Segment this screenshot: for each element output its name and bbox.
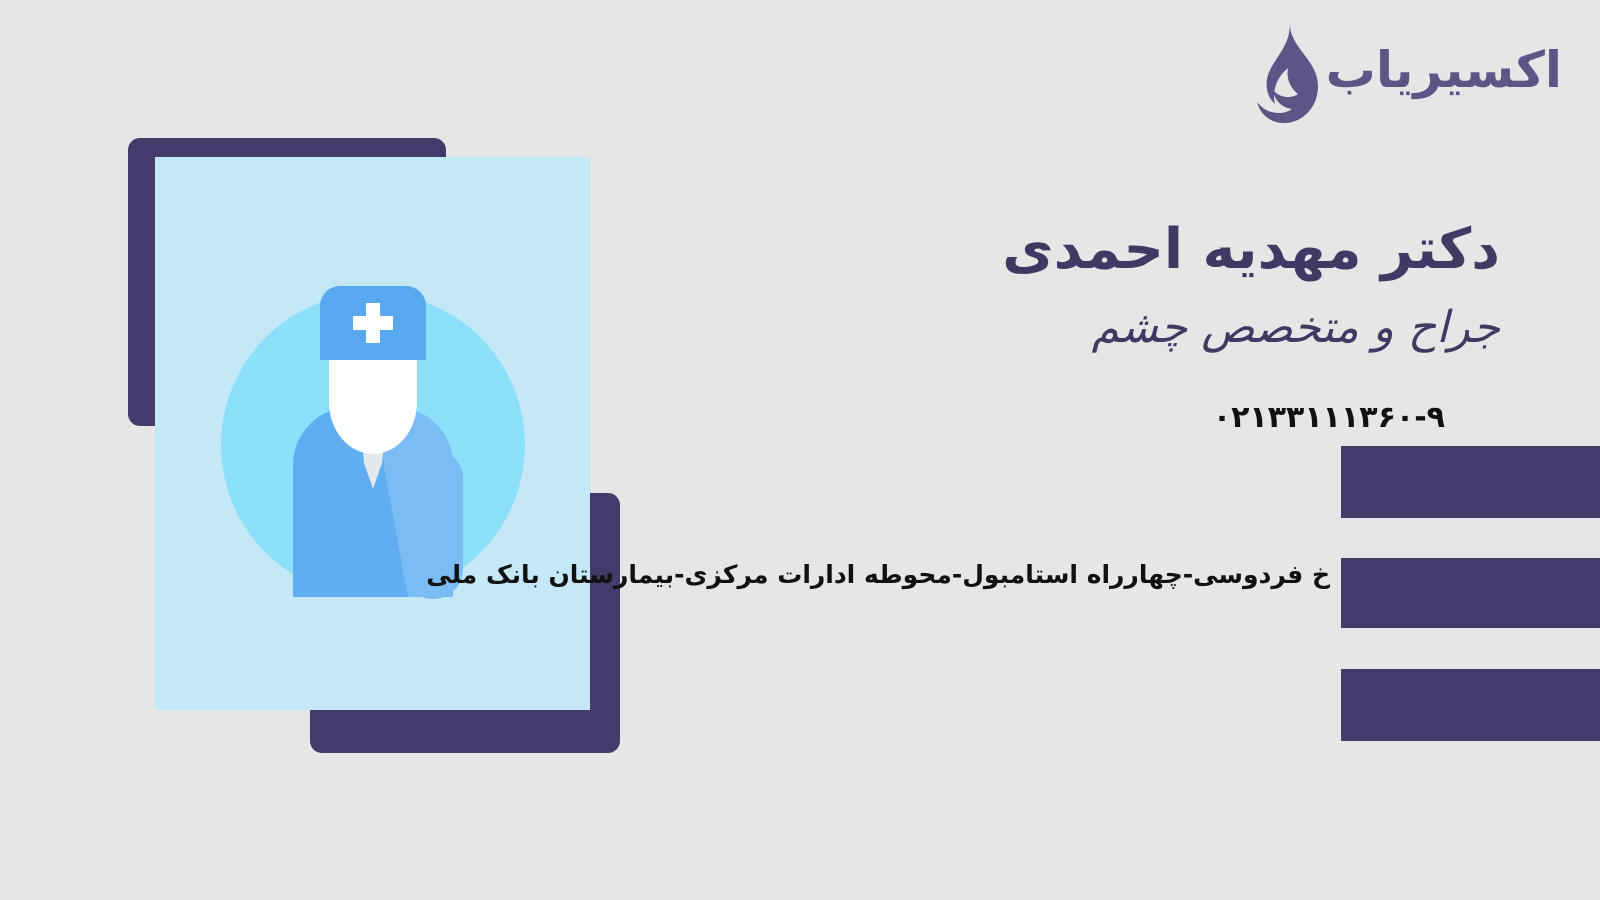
doctor-phone-number[interactable]: ۰۲۱۳۳۱۱۱۳۶۰-۹ [330,400,1445,435]
doctor-name: دکتر مهدیه احمدی [330,215,1500,285]
doctor-info-block: دکتر مهدیه احمدی جراح و متخصص چشم ۰۲۱۳۳۱… [330,215,1500,435]
doctor-profile-banner: اکسیریاب دکتر مهدیه احمدی جراح و متخصص چ… [0,0,1600,900]
accent-bar-3 [1341,669,1600,741]
brand-logo-text: اکسیریاب [1326,45,1562,103]
accent-bar-1 [1341,446,1600,518]
accent-bar-2 [1341,558,1600,628]
doctor-specialty: جراح و متخصص چشم [330,299,1500,356]
doctor-address: خ فردوسی-چهارراه استامبول-محوطه ادارات م… [426,560,1330,589]
brand-logo[interactable]: اکسیریاب [1246,22,1562,126]
flame-drop-icon [1246,22,1322,126]
